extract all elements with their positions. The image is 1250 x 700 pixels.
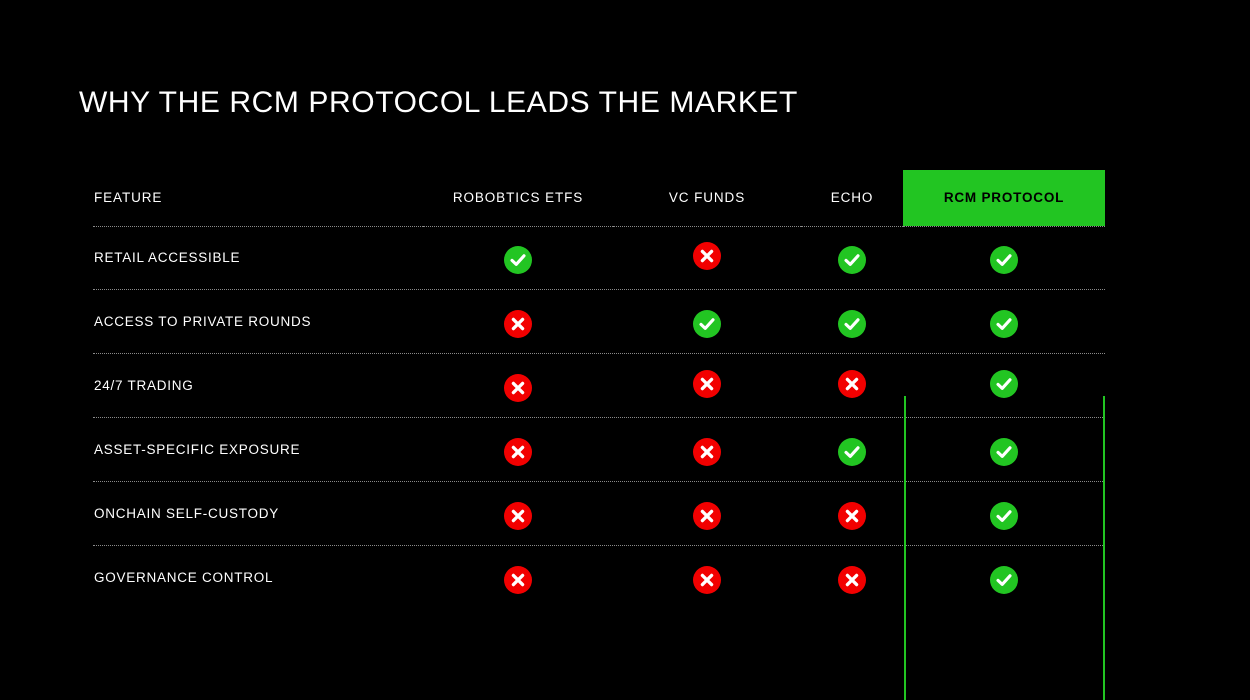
- check-icon: [838, 310, 866, 338]
- cell-etfs: [423, 354, 613, 417]
- cell-vc: [613, 546, 801, 609]
- check-icon: [838, 438, 866, 466]
- cell-echo: [801, 290, 903, 353]
- cell-vc: [613, 418, 801, 481]
- cross-icon: [838, 370, 866, 398]
- cross-icon: [693, 566, 721, 594]
- table-row: 24/7 TRADING: [93, 354, 1105, 417]
- check-icon: [990, 438, 1018, 466]
- feature-label: ONCHAIN SELF-CUSTODY: [93, 482, 423, 545]
- cross-icon: [693, 438, 721, 466]
- check-icon: [990, 310, 1018, 338]
- check-icon: [504, 246, 532, 274]
- check-icon: [693, 310, 721, 338]
- cross-icon: [838, 566, 866, 594]
- table-row: ACCESS TO PRIVATE ROUNDS: [93, 290, 1105, 353]
- cross-icon: [693, 370, 721, 398]
- table-row: ONCHAIN SELF-CUSTODY: [93, 482, 1105, 545]
- check-icon: [990, 566, 1018, 594]
- column-header-feature[interactable]: FEATURE: [93, 170, 423, 226]
- cell-etfs: [423, 418, 613, 481]
- cell-echo: [801, 354, 903, 417]
- cell-vc: [613, 482, 801, 545]
- check-icon: [990, 246, 1018, 274]
- column-header-rcm[interactable]: RCM PROTOCOL: [903, 170, 1105, 226]
- feature-label: GOVERNANCE CONTROL: [93, 546, 423, 609]
- feature-label: ASSET-SPECIFIC EXPOSURE: [93, 418, 423, 481]
- highlight-border-right: [1103, 396, 1105, 700]
- cross-icon: [693, 502, 721, 530]
- cell-vc: [613, 290, 801, 353]
- cell-rcm: [903, 482, 1105, 545]
- feature-label: 24/7 TRADING: [93, 354, 423, 417]
- cross-icon: [504, 502, 532, 530]
- cell-etfs: [423, 290, 613, 353]
- page-title: WHY THE RCM PROTOCOL LEADS THE MARKET: [79, 86, 798, 120]
- check-icon: [838, 246, 866, 274]
- cell-rcm: [903, 354, 1105, 417]
- feature-comparison-grid: FEATUREROBOBTICS ETFSVC FUNDSECHORCM PRO…: [93, 170, 1105, 609]
- cross-icon: [504, 310, 532, 338]
- comparison-table: FEATUREROBOBTICS ETFSVC FUNDSECHORCM PRO…: [93, 170, 1105, 609]
- column-header-vc[interactable]: VC FUNDS: [613, 170, 801, 226]
- highlight-border-left: [904, 396, 906, 700]
- feature-label: ACCESS TO PRIVATE ROUNDS: [93, 290, 423, 353]
- table-row: RETAIL ACCESSIBLE: [93, 226, 1105, 289]
- cell-rcm: [903, 290, 1105, 353]
- cross-icon: [504, 566, 532, 594]
- cell-etfs: [423, 226, 613, 289]
- cell-rcm: [903, 226, 1105, 289]
- table-body: RETAIL ACCESSIBLEACCESS TO PRIVATE ROUND…: [93, 226, 1105, 609]
- cross-icon: [838, 502, 866, 530]
- cell-rcm: [903, 546, 1105, 609]
- cell-echo: [801, 546, 903, 609]
- cell-etfs: [423, 546, 613, 609]
- cell-echo: [801, 226, 903, 289]
- cross-icon: [504, 438, 532, 466]
- cell-echo: [801, 482, 903, 545]
- cross-icon: [693, 242, 721, 270]
- table-row: ASSET-SPECIFIC EXPOSURE: [93, 418, 1105, 481]
- check-icon: [990, 370, 1018, 398]
- cross-icon: [504, 374, 532, 402]
- check-icon: [990, 502, 1018, 530]
- feature-label: RETAIL ACCESSIBLE: [93, 226, 423, 289]
- table-header: FEATUREROBOBTICS ETFSVC FUNDSECHORCM PRO…: [93, 170, 1105, 226]
- cell-etfs: [423, 482, 613, 545]
- cell-vc: [613, 354, 801, 417]
- column-header-echo[interactable]: ECHO: [801, 170, 903, 226]
- cell-echo: [801, 418, 903, 481]
- cell-vc: [613, 226, 801, 289]
- table-row: GOVERNANCE CONTROL: [93, 546, 1105, 609]
- cell-rcm: [903, 418, 1105, 481]
- column-header-etfs[interactable]: ROBOBTICS ETFS: [423, 170, 613, 226]
